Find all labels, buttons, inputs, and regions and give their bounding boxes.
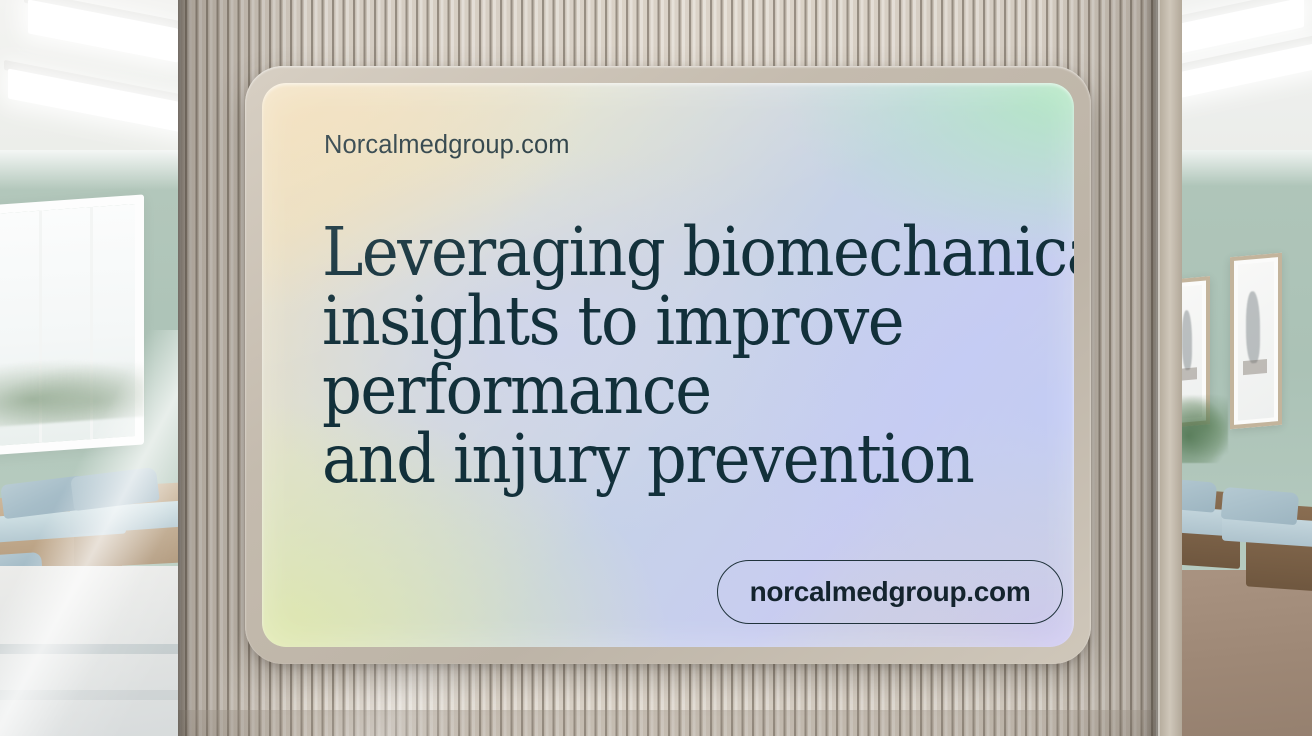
right-room-interior xyxy=(1160,0,1312,736)
doorway-jamb xyxy=(1160,0,1182,736)
website-cta-label: norcalmedgroup.com xyxy=(750,576,1031,608)
brand-wordmark-top: Norcalmedgroup.com xyxy=(324,131,570,160)
wall-baseboard xyxy=(178,710,1156,736)
wall-edge-shadow xyxy=(178,0,192,736)
display-screen[interactable]: Norcalmedgroup.com Leveraging biomechani… xyxy=(262,83,1074,647)
window-greenery xyxy=(0,354,144,427)
wall-display-panel[interactable]: Norcalmedgroup.com Leveraging biomechani… xyxy=(245,66,1091,664)
headline-line-1: Leveraging biomechanical xyxy=(322,218,1015,287)
artwork-image xyxy=(1238,261,1274,420)
website-cta-button[interactable]: norcalmedgroup.com xyxy=(717,560,1063,624)
headline-line-2: insights to improve xyxy=(322,287,1015,356)
floor-seam xyxy=(0,644,182,654)
headline-line-3: performance xyxy=(322,356,1015,425)
page-title: Leveraging biomechanical insights to imp… xyxy=(322,218,1015,494)
right-floor xyxy=(1160,570,1312,736)
left-room-interior xyxy=(0,0,182,736)
floor-seam xyxy=(0,690,182,700)
lounger-cushion xyxy=(1221,487,1299,526)
framed-artwork xyxy=(1230,253,1282,430)
scene-root: Norcalmedgroup.com Leveraging biomechani… xyxy=(0,0,1312,736)
wall-edge-shadow xyxy=(1142,0,1158,736)
headline-line-4: and injury prevention xyxy=(322,425,1015,494)
